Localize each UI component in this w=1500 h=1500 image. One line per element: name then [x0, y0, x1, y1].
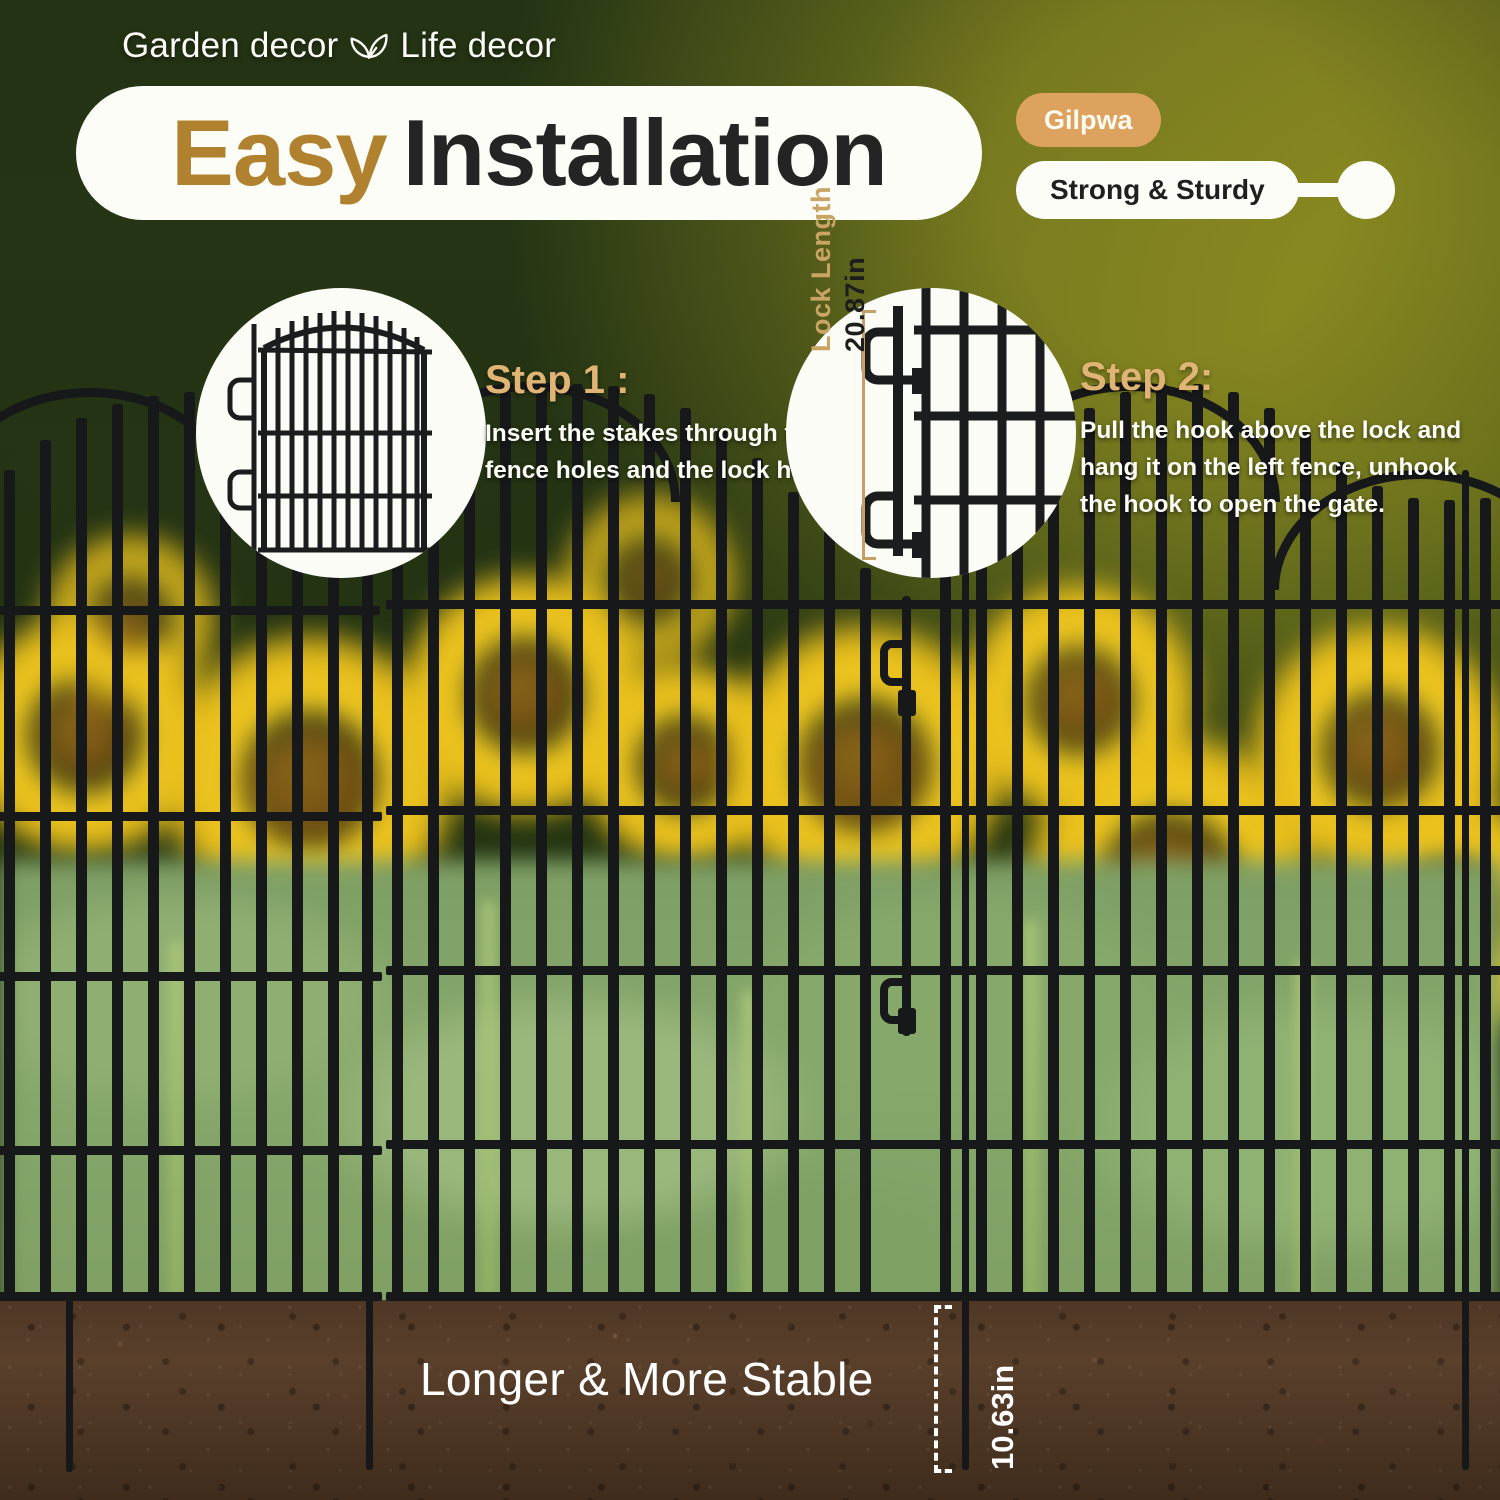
title-highlight: Easy [171, 106, 387, 200]
stable-label: Longer & More Stable [420, 1352, 874, 1406]
lock-collar [898, 1008, 916, 1034]
feature-badge-connector [1297, 183, 1339, 197]
depth-dimension-bracket [934, 1305, 952, 1473]
brand-badge-label: Gilpwa [1044, 105, 1133, 136]
ground-stake [66, 1292, 73, 1472]
fence-panel-with-lock-diagram-icon [196, 288, 486, 578]
step-2-body: Pull the hook above the lock and hang it… [1080, 412, 1480, 524]
feature-badge: Strong & Sturdy [1016, 161, 1395, 219]
ground-stake [1462, 470, 1469, 1470]
ground-stake [366, 430, 373, 1470]
feature-badge-dot [1337, 161, 1395, 219]
leaf-sprout-icon [348, 29, 390, 63]
depth-value-label: 10.63in [985, 1365, 1021, 1470]
lock-length-value: 20.87in [840, 257, 871, 352]
product-infographic: Garden decor Life decor Easy Installatio… [0, 0, 1500, 1500]
feature-badge-pill: Strong & Sturdy [1016, 161, 1299, 219]
page-title: Easy Installation [76, 86, 982, 220]
feature-badge-label: Strong & Sturdy [1050, 174, 1265, 206]
tagline-left-text: Garden decor [122, 26, 338, 66]
fence-structure [0, 0, 1500, 1500]
tagline-right-text: Life decor [400, 26, 556, 66]
step-2-title: Step 2: [1080, 355, 1480, 400]
ground-stake [962, 560, 969, 1470]
lock-length-label: Lock Length [806, 186, 837, 352]
step-1-illustration [196, 288, 486, 578]
brand-badge: Gilpwa [1016, 93, 1161, 147]
brand-tagline: Garden decor Life decor [122, 26, 556, 66]
lock-hook-top [880, 640, 906, 686]
step-2-text: Step 2: Pull the hook above the lock and… [1080, 355, 1480, 524]
lock-collar [898, 690, 916, 716]
